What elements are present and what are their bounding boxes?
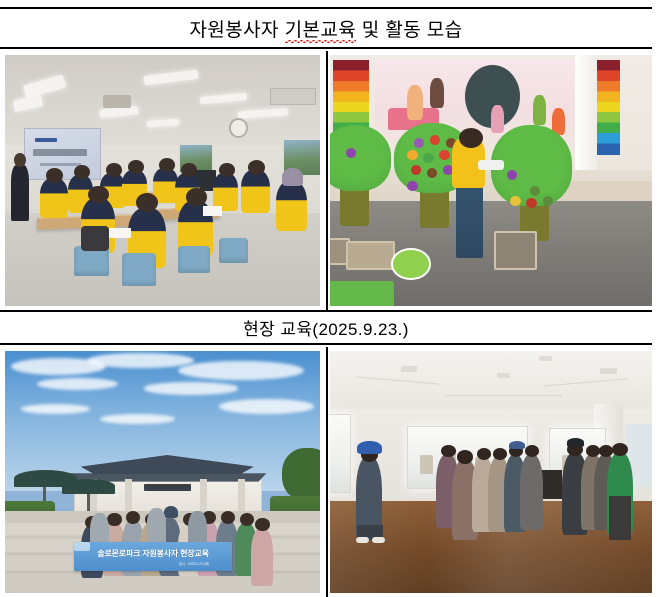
document-page: 자원봉사자 기본교육 및 활동 모습 (0, 0, 664, 590)
slide-title-text (33, 149, 87, 156)
building-column (238, 479, 245, 510)
banner-sub-text: 일시 : 2025.9.23.(화) (166, 561, 223, 566)
title-part-after: 및 활동 모습 (356, 15, 462, 42)
tour-participant (520, 455, 543, 530)
cloud (219, 399, 314, 414)
paper-handout (203, 206, 222, 216)
fruit-piece (414, 138, 424, 148)
backpack (81, 226, 109, 251)
cloud (87, 353, 194, 368)
mural-figure (491, 105, 504, 133)
green-floor-mat (330, 281, 394, 306)
photo-cell-bottom-right (326, 347, 652, 597)
title-part-before: 자원봉사자 (189, 15, 284, 42)
attendee-head (136, 193, 158, 212)
mural-figure (533, 95, 546, 125)
tree (282, 448, 320, 501)
ceiling-downlight (401, 366, 417, 372)
participant-legs (609, 496, 632, 540)
air-conditioner-vent (270, 88, 316, 105)
tour-participant-head (457, 450, 473, 463)
photo-museum-gallery-guided-tour (330, 351, 652, 593)
group-member-head (107, 513, 121, 526)
cloud (144, 382, 239, 394)
cloud (100, 414, 176, 424)
slide-header-bar (35, 138, 57, 143)
paper-handout (109, 228, 131, 238)
instructor-head (14, 153, 27, 167)
volunteer-head (459, 128, 483, 148)
attendee-head (181, 163, 197, 177)
attendee-head (186, 188, 206, 206)
fruit-piece (423, 153, 433, 163)
mural-figure (430, 78, 444, 108)
attendee-head (88, 186, 108, 204)
chair (178, 246, 210, 274)
storage-basket (346, 241, 395, 270)
tour-guide-blue-bucket-hat (357, 441, 381, 454)
cloud (37, 378, 119, 390)
display-case (330, 414, 351, 493)
group-member (251, 528, 273, 586)
instructor-body (11, 165, 28, 220)
fruit-piece (407, 181, 417, 191)
participant-cap (509, 441, 525, 449)
patio-umbrella (62, 479, 116, 494)
exhibit-artifact (420, 455, 433, 474)
tree-prop-canopy (330, 125, 391, 190)
attendee-hat (282, 168, 302, 186)
shoe (372, 537, 385, 543)
middle-caption-row: 현장 교육(2025.9.23.) (0, 312, 652, 343)
participant-cap (567, 438, 585, 446)
building-column (125, 479, 132, 510)
slide-subtitle-text (40, 163, 81, 167)
fruit-piece (526, 198, 536, 208)
banner-main-text: 솔로몬로파크 자원봉사자 현장교육 (87, 548, 219, 559)
storage-basket (494, 231, 537, 270)
ceiling-downlight (497, 373, 510, 378)
tree-prop-trunk (340, 186, 369, 226)
volunteer-legs (456, 183, 483, 258)
fruit-piece (530, 186, 540, 196)
fruit-piece (543, 196, 553, 206)
attendee-head (128, 160, 144, 174)
group-member-head (221, 511, 235, 524)
group-member (147, 508, 166, 544)
title-bottom-border (0, 47, 652, 49)
mural-figure (407, 85, 423, 120)
middle-caption-bottom-border (0, 343, 652, 345)
tree-prop-trunk (420, 188, 449, 228)
attendee-head (159, 158, 175, 172)
photo-cell-top-right (326, 51, 652, 310)
ceiling-downlight (600, 368, 616, 374)
tour-participant-head (612, 443, 628, 456)
event-banner: 솔로몬로파크 자원봉사자 현장교육 일시 : 2025.9.23.(화) (74, 542, 232, 571)
middle-caption-text: 현장 교육(2025.9.23.) (243, 315, 409, 340)
volunteer-arm (478, 160, 504, 170)
photo-group-photo-solomon-law-park: 솔로몬로파크 자원봉사자 현장교육 일시 : 2025.9.23.(화) (5, 351, 320, 593)
fruit-piece (407, 150, 417, 160)
building-column (200, 479, 207, 510)
ceiling-downlight (539, 356, 552, 361)
group-member-cap (164, 506, 178, 518)
cloud (178, 361, 304, 380)
attendee-vest (40, 178, 68, 218)
building-nameplate (144, 484, 191, 491)
table-title-row: 자원봉사자 기본교육 및 활동 모습 (0, 9, 652, 47)
chair (122, 253, 157, 286)
attendee-head (219, 163, 235, 177)
photo-cell-top-left (0, 51, 326, 310)
fruit-piece (510, 196, 520, 206)
cloud (21, 404, 90, 414)
attendee-vest (276, 181, 308, 231)
ceiling-projector (103, 95, 131, 108)
fruit-piece (427, 168, 437, 178)
title-part-misspelled: 기본교육 (285, 15, 357, 42)
attendee-head (46, 168, 63, 183)
photo-cell-bottom-left: 솔로몬로파크 자원봉사자 현장교육 일시 : 2025.9.23.(화) (0, 347, 326, 597)
attendee-vest (241, 170, 269, 213)
photo-row-top (0, 51, 652, 310)
photo-row-bottom: 솔로몬로파크 자원봉사자 현장교육 일시 : 2025.9.23.(화) (0, 347, 652, 597)
attendee-head (106, 163, 122, 177)
chair (219, 238, 247, 263)
group-member-head (255, 518, 269, 531)
floor-decal (391, 248, 430, 280)
tour-participant-head (493, 448, 507, 460)
photo-classroom-volunteer-basic-training (5, 55, 320, 306)
tour-participant-head (477, 448, 491, 460)
shoe (356, 537, 369, 543)
photo-childrens-museum-tree-activity (330, 55, 652, 306)
ceiling-seam (446, 395, 562, 396)
